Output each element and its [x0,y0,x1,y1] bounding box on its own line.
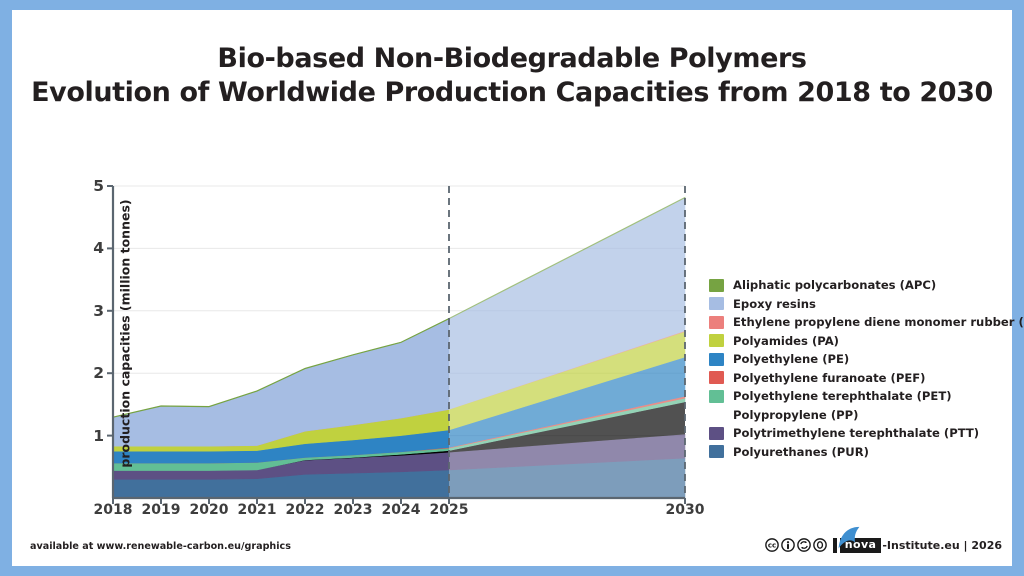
legend-color-swatch [709,297,724,310]
footer-source-text: available at www.renewable-carbon.eu/gra… [30,541,291,552]
legend-item-label: Polyethylene furanoate (PEF) [733,371,925,385]
y-tick-label: 1 [64,427,104,445]
poster-frame: Bio-based Non-Biodegradable Polymers Evo… [0,0,1024,576]
nova-swoosh-icon [836,526,862,552]
legend-item[interactable]: Polypropylene (PP) [709,406,1024,425]
legend-item-label: Epoxy resins [733,297,816,311]
poster-canvas: Bio-based Non-Biodegradable Polymers Evo… [12,10,1012,566]
x-tick-label: 2030 [655,502,715,518]
area-chart-svg [113,186,685,498]
page-title: Bio-based Non-Biodegradable Polymers Evo… [12,42,1012,110]
y-axis-title: production capacities (million tonnes) [118,184,133,484]
creative-commons-icons: cc [765,538,827,552]
legend-color-swatch [709,316,724,329]
legend-item[interactable]: Aliphatic polycarbonates (APC) [709,276,1024,295]
legend-item-label: Polyethylene terephthalate (PET) [733,389,952,403]
chart-plot-area: production capacities (million tonnes) 1… [113,186,685,498]
title-line-1: Bio-based Non-Biodegradable Polymers [12,42,1012,76]
legend-item[interactable]: Polyamides (PA) [709,332,1024,351]
cc-by-icon [781,538,795,552]
nova-institute-logo: nova -Institute.eu | 2026 [832,534,1002,556]
legend-item-label: Polyethylene (PE) [733,352,849,366]
chart-legend: Aliphatic polycarbonates (APC)Epoxy resi… [709,276,1024,461]
legend-item-label: Polyurethanes (PUR) [733,445,869,459]
cc-icon: cc [765,538,779,552]
legend-item[interactable]: Polyethylene furanoate (PEF) [709,369,1024,388]
footer-branding: cc [765,534,1002,556]
legend-item[interactable]: Ethylene propylene diene monomer rubber … [709,313,1024,332]
legend-color-swatch [709,334,724,347]
legend-item-label: Polypropylene (PP) [733,408,858,422]
legend-color-swatch [709,371,724,384]
legend-color-swatch [709,279,724,292]
x-tick-label: 2025 [419,502,479,518]
cc-zero-icon [813,538,827,552]
legend-color-swatch [709,408,724,421]
legend-color-swatch [709,390,724,403]
nova-institute-text: -Institute.eu | 2026 [882,539,1002,552]
cc-sa-icon [797,538,811,552]
legend-item-label: Polyamides (PA) [733,334,839,348]
title-line-2: Evolution of Worldwide Production Capaci… [12,76,1012,110]
y-tick-label: 5 [64,177,104,195]
y-tick-label: 2 [64,364,104,382]
legend-item[interactable]: Polyurethanes (PUR) [709,443,1024,462]
y-tick-label: 4 [64,239,104,257]
legend-color-swatch [709,445,724,458]
legend-item-label: Ethylene propylene diene monomer rubber … [733,315,1024,329]
legend-item-label: Aliphatic polycarbonates (APC) [733,278,936,292]
legend-item-label: Polytrimethylene terephthalate (PTT) [733,426,979,440]
legend-item[interactable]: Polyethylene (PE) [709,350,1024,369]
legend-item[interactable]: Polyethylene terephthalate (PET) [709,387,1024,406]
legend-item[interactable]: Polytrimethylene terephthalate (PTT) [709,424,1024,443]
svg-text:cc: cc [768,542,776,550]
legend-color-swatch [709,427,724,440]
legend-item[interactable]: Epoxy resins [709,295,1024,314]
legend-color-swatch [709,353,724,366]
y-tick-label: 3 [64,302,104,320]
